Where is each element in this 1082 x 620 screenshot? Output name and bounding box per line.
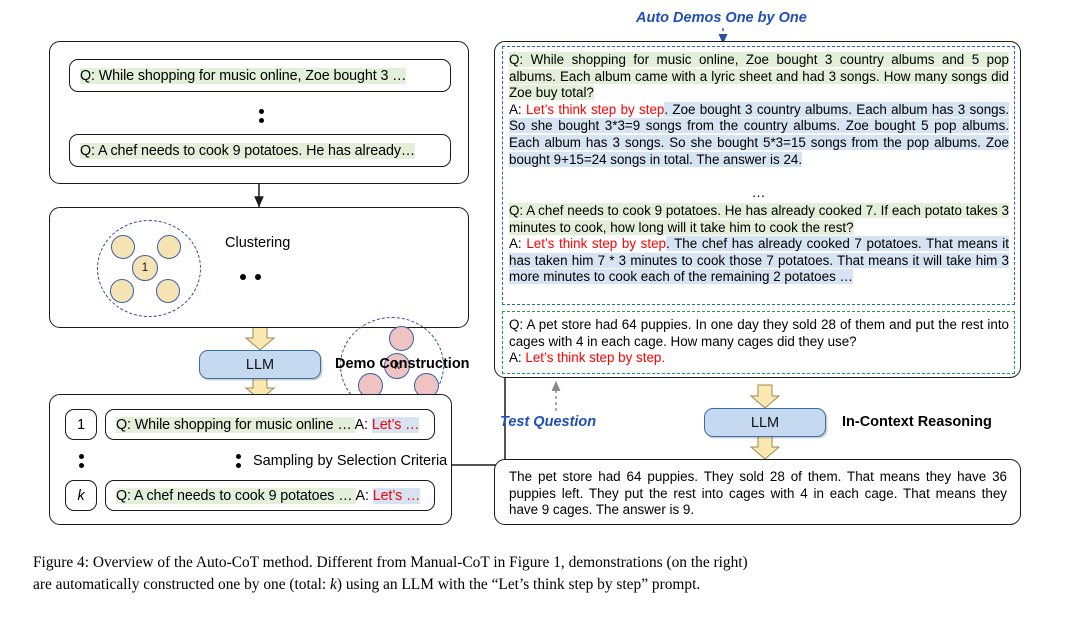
cluster-node bbox=[110, 279, 134, 303]
test-question-q: Q: A pet store had 64 puppies. In one da… bbox=[509, 317, 1009, 350]
demos-ellipsis: … bbox=[503, 184, 1016, 200]
caption-line-1: Figure 4: Overview of the Auto-CoT metho… bbox=[33, 552, 1049, 574]
demo-row-k: Q: A chef needs to cook 9 potatoes … A: … bbox=[105, 480, 435, 511]
clustering-box: 1 Clustering k bbox=[49, 207, 469, 328]
test-question-region: Q: A pet store had 64 puppies. In one da… bbox=[502, 311, 1015, 374]
answer-box: The pet store had 64 puppies. They sold … bbox=[494, 459, 1021, 525]
cluster-node bbox=[111, 235, 135, 259]
question-pool-box: Q: While shopping for music online, Zoe … bbox=[49, 41, 469, 184]
demo-list-vertical-ellipsis-mid bbox=[228, 447, 248, 475]
demo-list-box: 1 Q: While shopping for music online … A… bbox=[49, 394, 452, 525]
arrow-llm-to-answer bbox=[750, 436, 780, 460]
llm-box-demo-construction[interactable]: LLM bbox=[199, 350, 321, 379]
answer-text: The pet store had 64 puppies. They sold … bbox=[509, 469, 1007, 519]
arrow-prompt-to-llm bbox=[750, 385, 780, 409]
demo-1-text: Q: While shopping for music online, Zoe … bbox=[509, 52, 1009, 168]
demo-row-1: Q: While shopping for music online … A: … bbox=[105, 409, 435, 440]
figure-caption: Figure 4: Overview of the Auto-CoT metho… bbox=[33, 552, 1049, 596]
cluster-1: 1 bbox=[97, 220, 201, 317]
clustering-horizontal-ellipsis bbox=[240, 274, 261, 280]
demos-outer-box: Q: While shopping for music online, Zoe … bbox=[494, 41, 1021, 378]
demo-index-k: k bbox=[65, 480, 97, 511]
cluster-node bbox=[157, 235, 181, 259]
clustering-label: Clustering bbox=[225, 235, 290, 251]
pool-question-2: Q: A chef needs to cook 9 potatoes. He h… bbox=[69, 134, 451, 167]
pool-vertical-ellipsis bbox=[236, 99, 286, 133]
in-context-reasoning-label: In-Context Reasoning bbox=[842, 414, 992, 430]
auto-demos-label: Auto Demos One by One bbox=[636, 10, 807, 26]
test-question-label: Test Question bbox=[500, 414, 596, 430]
cluster-node-label-1: 1 bbox=[132, 255, 158, 281]
cluster-node bbox=[156, 279, 180, 303]
cluster-node bbox=[389, 326, 414, 351]
caption-line-2: are automatically constructed one by one… bbox=[33, 574, 1049, 596]
demo-index-1: 1 bbox=[65, 409, 97, 440]
demo-construction-label: Demo Construction bbox=[335, 356, 470, 372]
arrow-clustering-to-llm bbox=[245, 327, 275, 351]
demo-list-vertical-ellipsis-left bbox=[65, 447, 97, 475]
test-question-text: Q: A pet store had 64 puppies. In one da… bbox=[509, 317, 1009, 367]
demo-2-text: Q: A chef needs to cook 9 potatoes. He h… bbox=[509, 203, 1009, 286]
generated-demos-region: Q: While shopping for music online, Zoe … bbox=[502, 46, 1015, 305]
test-question-a: A: Let’s think step by step. bbox=[509, 350, 1009, 367]
figure-root: Q: While shopping for music online, Zoe … bbox=[0, 0, 1082, 620]
pool-question-1: Q: While shopping for music online, Zoe … bbox=[69, 59, 451, 92]
llm-box-in-context-reasoning[interactable]: LLM bbox=[704, 408, 826, 437]
sampling-criteria-label: Sampling by Selection Criteria bbox=[253, 453, 447, 469]
